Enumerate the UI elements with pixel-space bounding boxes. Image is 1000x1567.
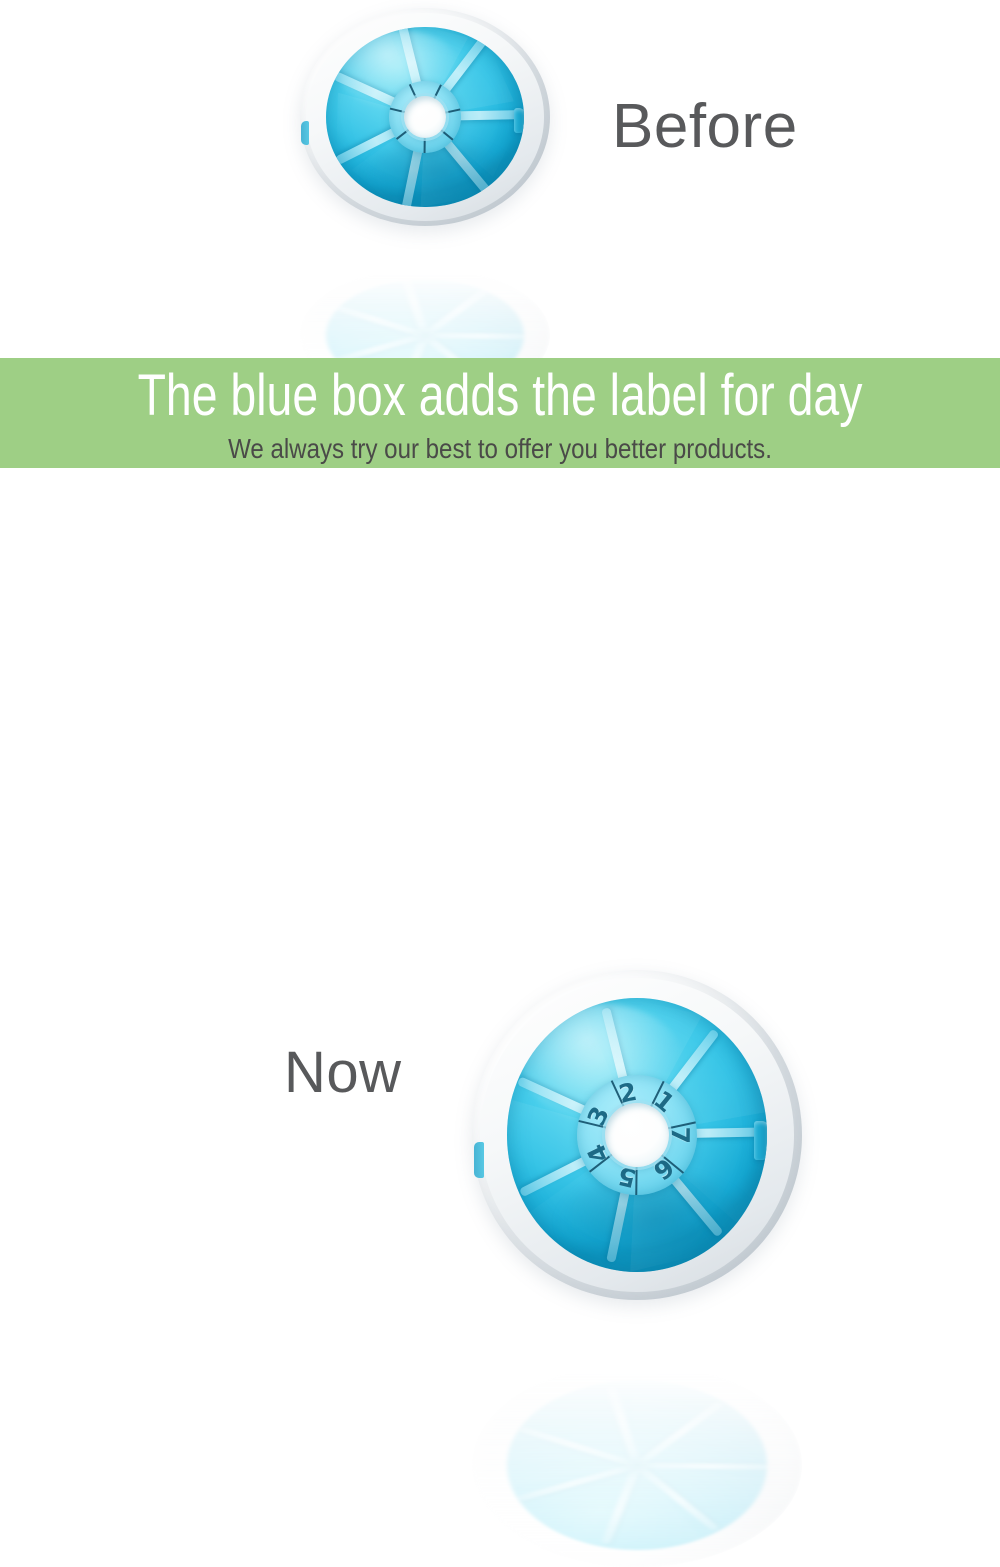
compartment-divider	[633, 1463, 719, 1531]
compartment-wedge	[630, 1380, 767, 1465]
banner-subheadline: We always try our best to offer you bett…	[70, 432, 930, 466]
pillbox-side-tab	[301, 121, 309, 145]
reflection-dividers	[507, 1380, 768, 1550]
compartment-divider	[425, 332, 524, 339]
compartment-wedge	[420, 279, 523, 335]
compartment-divider	[519, 1426, 639, 1467]
compartment-wedge	[526, 1380, 713, 1465]
pillbox-latch-tab	[514, 108, 524, 133]
reflection-shell	[472, 1363, 802, 1567]
compartment-wedge	[507, 1387, 637, 1488]
compartment-wedge	[614, 1465, 767, 1550]
reflection-lid	[507, 1380, 768, 1550]
pillbox-latch-tab	[754, 1121, 767, 1159]
now-section: 1234567 Now	[0, 468, 1000, 985]
compartment-divider	[517, 1462, 639, 1501]
day-dial[interactable]	[389, 81, 461, 153]
dial-center-hub	[605, 1103, 669, 1167]
dial-center-hub	[404, 96, 446, 138]
reflection-body	[472, 1363, 802, 1567]
pillbox-side-tab	[474, 1142, 485, 1178]
now-label: Now	[284, 1040, 402, 1106]
pillbox-before	[300, 8, 550, 226]
pillbox-now: 1234567	[472, 970, 802, 1300]
compartment-divider	[335, 305, 427, 338]
compartment-wedge	[507, 1434, 637, 1544]
banner-headline: The blue box adds the label for day	[100, 360, 900, 432]
pillbox-before-body	[300, 8, 550, 226]
dial-day-number: 7	[667, 1127, 692, 1145]
pillbox-now-reflection	[472, 1363, 802, 1567]
compartment-divider	[422, 286, 492, 337]
compartment-wedge	[637, 1409, 767, 1526]
before-label: Before	[612, 92, 798, 162]
compartment-wedge	[523, 1465, 703, 1550]
promo-banner: The blue box adds the label for day We a…	[0, 358, 1000, 468]
compartment-divider	[601, 1464, 641, 1544]
compartment-wedge	[352, 279, 483, 335]
compartment-divider	[634, 1401, 724, 1467]
compartment-wedge	[326, 279, 425, 350]
pillbox-now-body: 1234567	[472, 970, 802, 1300]
compartment-divider	[606, 1385, 641, 1465]
compartment-divider	[637, 1462, 767, 1469]
compartment-divider	[401, 279, 430, 336]
before-section: Before	[0, 0, 1000, 358]
day-dial[interactable]: 1234567	[577, 1075, 697, 1195]
